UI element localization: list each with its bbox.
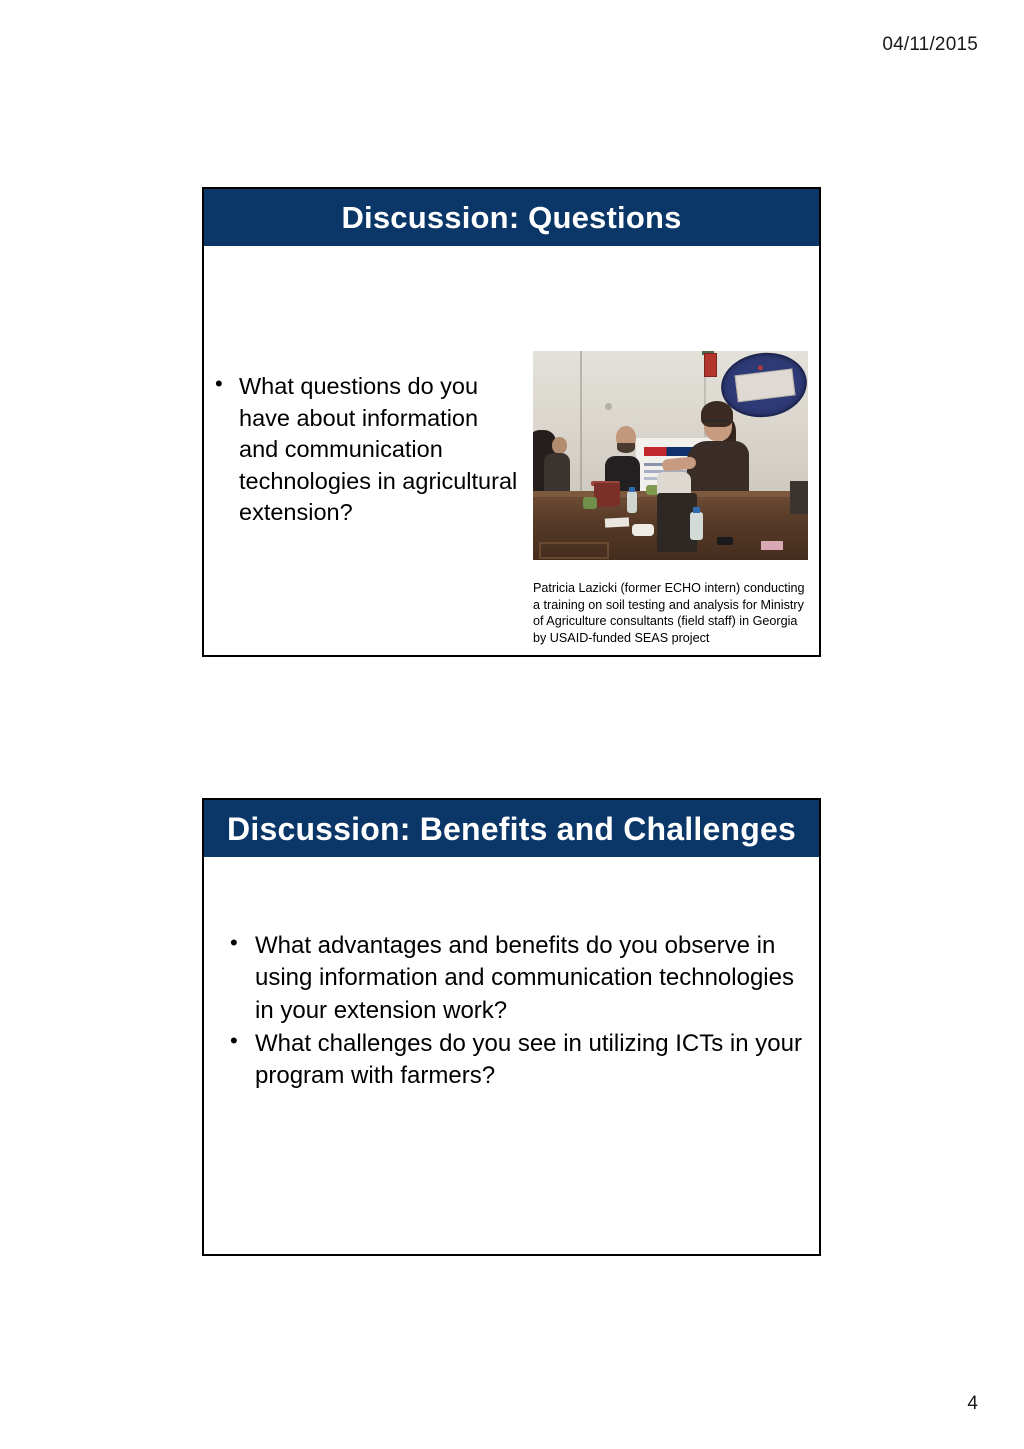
slide-1-title-bar: Discussion: Questions (204, 189, 819, 246)
photo-wall-seam-left (580, 351, 582, 501)
photo-fire-alarm (704, 353, 717, 377)
slide-1-photo-block: Patricia Lazicki (former ECHO intern) co… (533, 351, 808, 647)
photo-bucket (594, 483, 620, 507)
photo-caption: Patricia Lazicki (former ECHO intern) co… (533, 580, 805, 647)
page-number: 4 (967, 1393, 978, 1415)
slide-2-bullet-2: What challenges do you see in utilizing … (226, 1028, 806, 1093)
slide-2-body: What advantages and benefits do you obse… (204, 857, 819, 1254)
slide-2-title: Discussion: Benefits and Challenges (227, 813, 796, 845)
photo-paper-1 (604, 518, 628, 528)
photo-phone (717, 537, 733, 545)
photo-water-bottle-2 (690, 512, 703, 540)
slide-1-body: What questions do you have about informa… (204, 246, 819, 655)
photo-person-left-head (552, 437, 567, 454)
photo-green-item-1 (583, 497, 597, 509)
slide-discussion-benefits-challenges: Discussion: Benefits and Challenges What… (202, 798, 821, 1256)
photo-wall-spot (605, 403, 612, 410)
photo-chair-right (790, 481, 808, 514)
slide-2-bullet-list: What advantages and benefits do you obse… (226, 930, 806, 1093)
slide-2-title-bar: Discussion: Benefits and Challenges (204, 800, 819, 857)
photo-pink-item (761, 541, 783, 550)
slide-2-bullet-1: What advantages and benefits do you obse… (226, 930, 806, 1027)
photo-presenter-glasses (705, 420, 727, 428)
slide-1-bullet-list: What questions do you have about informa… (213, 371, 518, 531)
photo-desk-panel (539, 542, 609, 559)
slide-discussion-questions: Discussion: Questions What questions do … (202, 187, 821, 657)
slide-1-title: Discussion: Questions (341, 202, 681, 233)
page-date: 04/11/2015 (882, 34, 978, 56)
photo-water-bottle-1 (627, 491, 637, 513)
photo-plaque-panel (735, 368, 796, 402)
slide-1-bullet-1: What questions do you have about informa… (213, 371, 518, 529)
photo-paper-2 (632, 524, 654, 536)
photo-plaque-emblem (757, 365, 763, 371)
photo-man-beard (617, 443, 635, 453)
training-session-photo (533, 351, 808, 560)
